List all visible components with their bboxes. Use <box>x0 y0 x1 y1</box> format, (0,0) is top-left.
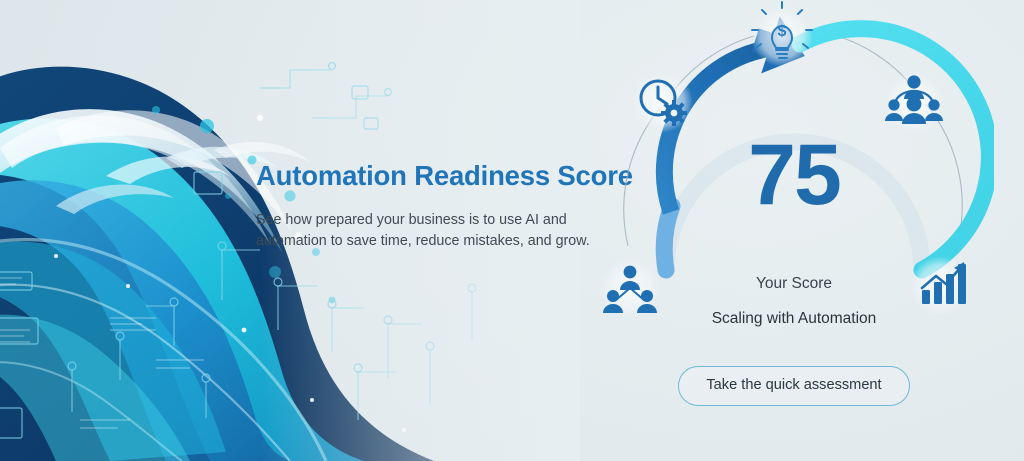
readiness-gauge-panel: $ <box>594 0 994 461</box>
score-caption: Scaling with Automation <box>594 310 994 328</box>
score-value: 75 <box>594 132 994 218</box>
automation-readiness-hero: Automation Readiness Score See how prepa… <box>0 0 1024 461</box>
team-group-icon <box>883 71 945 133</box>
cta-container: Take the quick assessment <box>594 366 994 406</box>
take-assessment-button[interactable]: Take the quick assessment <box>678 366 909 406</box>
hero-copy: Automation Readiness Score See how prepa… <box>256 160 616 252</box>
hero-subtitle: See how prepared your business is to use… <box>256 210 596 252</box>
score-label: Your Score <box>594 275 994 293</box>
page-title: Automation Readiness Score <box>256 160 616 192</box>
